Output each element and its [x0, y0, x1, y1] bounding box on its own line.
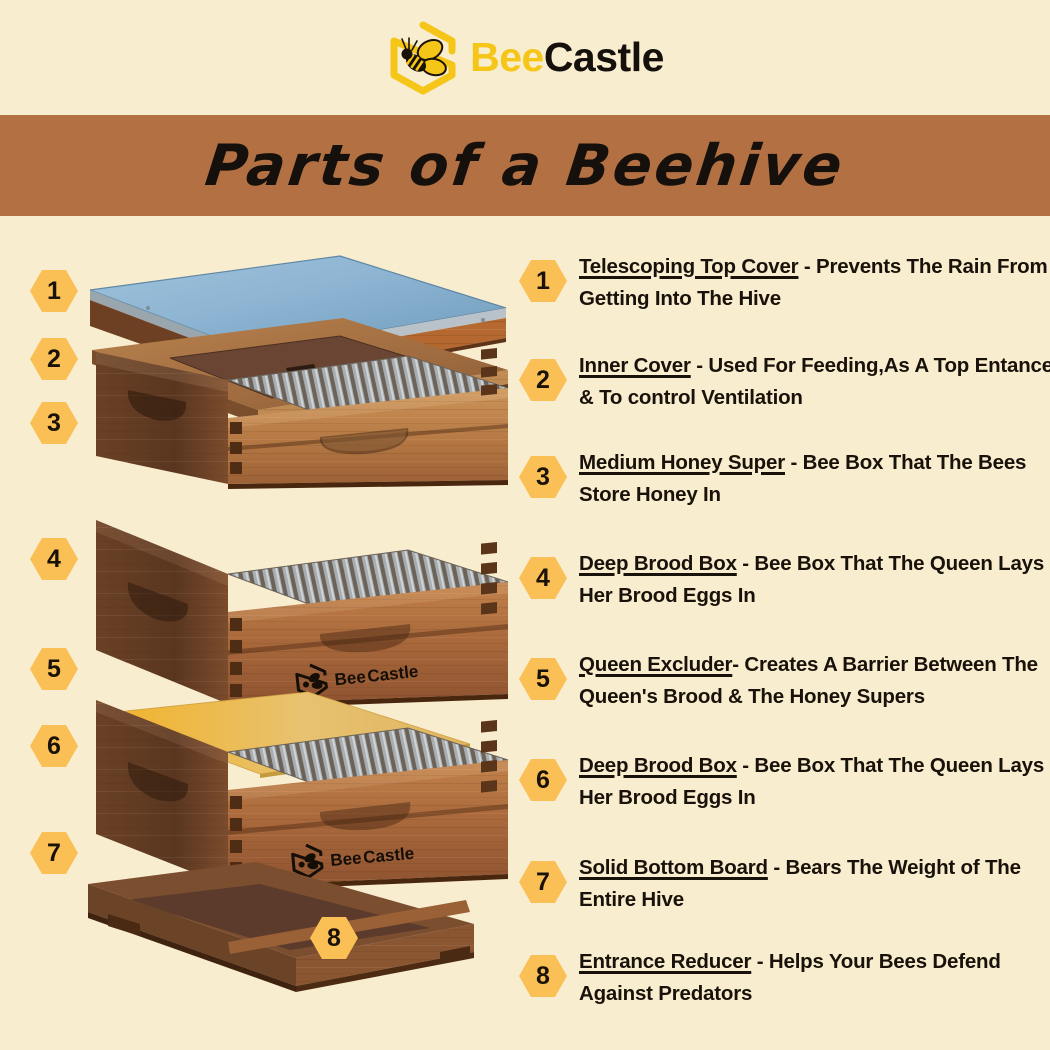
list-badge-7: 7	[519, 861, 567, 903]
left-badge-3: 3	[30, 402, 78, 444]
list-badge-8: 8	[519, 955, 567, 997]
list-item-term: Queen Excluder	[579, 653, 732, 676]
list-badge-5: 5	[519, 658, 567, 700]
left-badge-label: 4	[47, 545, 61, 574]
list-badge-4: 4	[519, 557, 567, 599]
list-badge-label: 5	[536, 665, 550, 694]
list-item-text: Telescoping Top Cover - Prevents The Rai…	[579, 251, 1050, 314]
list-badge-label: 1	[536, 267, 550, 296]
left-badge-label: 5	[47, 655, 61, 684]
list-item-term: Entrance Reducer	[579, 950, 751, 973]
list-badge-6: 6	[519, 759, 567, 801]
left-badge-label: 1	[47, 277, 61, 306]
list-item-text: Medium Honey Super - Bee Box That The Be…	[579, 447, 1050, 510]
page-header: BeeCastle	[0, 0, 1050, 115]
list-item-term: Deep Brood Box	[579, 754, 737, 777]
list-badge-2: 2	[519, 359, 567, 401]
list-item-text: Deep Brood Box - Bee Box That The Queen …	[579, 750, 1050, 813]
left-badge-6: 6	[30, 725, 78, 767]
title-banner: Parts of a Beehive	[0, 115, 1050, 216]
left-badge-label: 3	[47, 409, 61, 438]
svg-text:Bee: Bee	[334, 667, 367, 689]
list-badge-1: 1	[519, 260, 567, 302]
list-item-text: Solid Bottom Board - Bears The Weight of…	[579, 852, 1050, 915]
logo-word-castle: Castle	[544, 34, 664, 80]
exploded-beehive-illustration: Bee Castle	[78, 252, 518, 1032]
svg-text:Bee: Bee	[330, 848, 363, 870]
bee-in-hexagon-icon	[386, 21, 460, 95]
left-badge-4: 4	[30, 538, 78, 580]
list-item-text: Inner Cover - Used For Feeding,As A Top …	[579, 350, 1050, 413]
list-item-term: Deep Brood Box	[579, 552, 737, 575]
list-item-text: Deep Brood Box - Bee Box That The Queen …	[579, 548, 1050, 611]
left-badge-label: 2	[47, 345, 61, 374]
logo-wordmark: BeeCastle	[470, 37, 664, 78]
logo-word-bee: Bee	[470, 34, 544, 80]
list-badge-label: 3	[536, 463, 550, 492]
list-badge-label: 2	[536, 366, 550, 395]
left-badge-7: 7	[30, 832, 78, 874]
list-badge-label: 7	[536, 868, 550, 897]
beecastle-logo: BeeCastle	[386, 21, 664, 95]
list-item-term: Medium Honey Super	[579, 451, 785, 474]
list-item-text: Entrance Reducer - Helps Your Bees Defen…	[579, 946, 1050, 1009]
left-badge-label: 6	[47, 732, 61, 761]
list-item-term: Inner Cover	[579, 354, 691, 377]
list-badge-label: 4	[536, 564, 550, 593]
list-badge-3: 3	[519, 456, 567, 498]
beehive-diagram-svg: Bee Castle	[78, 252, 518, 1032]
list-badge-label: 8	[536, 962, 550, 991]
infographic-page: BeeCastle Parts of a Beehive 1234567	[0, 0, 1050, 1050]
list-badge-label: 6	[536, 766, 550, 795]
layer-deep-brood-box-upper: Bee Castle	[96, 520, 508, 709]
hive-badge-8-label: 8	[327, 924, 341, 953]
left-badge-2: 2	[30, 338, 78, 380]
left-badge-label: 7	[47, 839, 61, 868]
left-badge-1: 1	[30, 270, 78, 312]
list-item-text: Queen Excluder- Creates A Barrier Betwee…	[579, 649, 1050, 712]
list-item-term: Telescoping Top Cover	[579, 255, 798, 278]
left-badge-5: 5	[30, 648, 78, 690]
page-title: Parts of a Beehive	[202, 133, 849, 199]
list-item-term: Solid Bottom Board	[579, 856, 768, 879]
